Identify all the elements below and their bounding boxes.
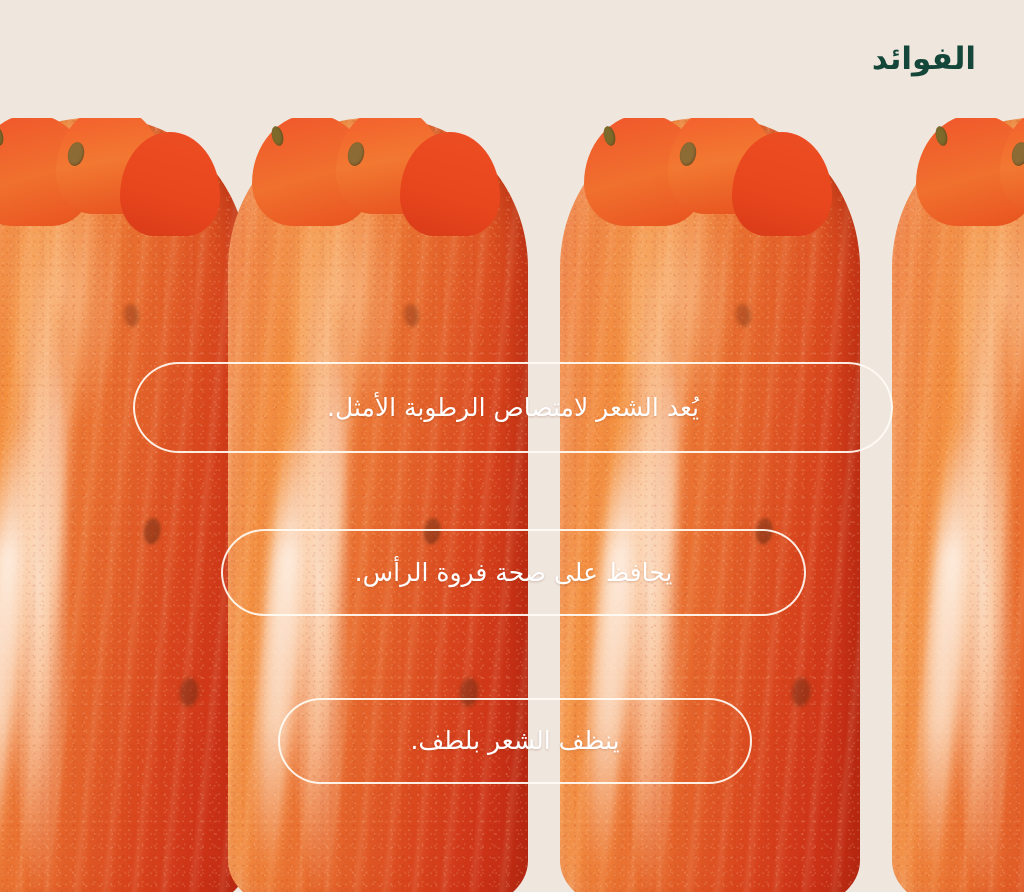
benefit-pill-3[interactable]: ينظف الشعر بلطف. <box>278 698 752 784</box>
benefits-slide: الفوائد يُعد الشعر لامتصاص الرطوبة الأمث… <box>0 0 1024 892</box>
benefit-pill-2-label: يحافظ على صحة فروة الرأس. <box>355 559 673 587</box>
strawberry-body <box>0 118 248 892</box>
benefit-pill-1-label: يُعد الشعر لامتصاص الرطوبة الأمثل. <box>327 394 699 422</box>
strawberry-striation-texture <box>0 118 248 892</box>
benefit-pill-2[interactable]: يحافظ على صحة فروة الرأس. <box>221 529 806 616</box>
strawberry-slice <box>892 118 1024 892</box>
strawberry-slice <box>0 118 248 892</box>
slide-header: الفوائد <box>0 0 1024 120</box>
benefit-pill-1[interactable]: يُعد الشعر لامتصاص الرطوبة الأمثل. <box>133 362 893 453</box>
benefit-pill-3-label: ينظف الشعر بلطف. <box>410 727 619 755</box>
page-title: الفوائد <box>872 44 976 75</box>
